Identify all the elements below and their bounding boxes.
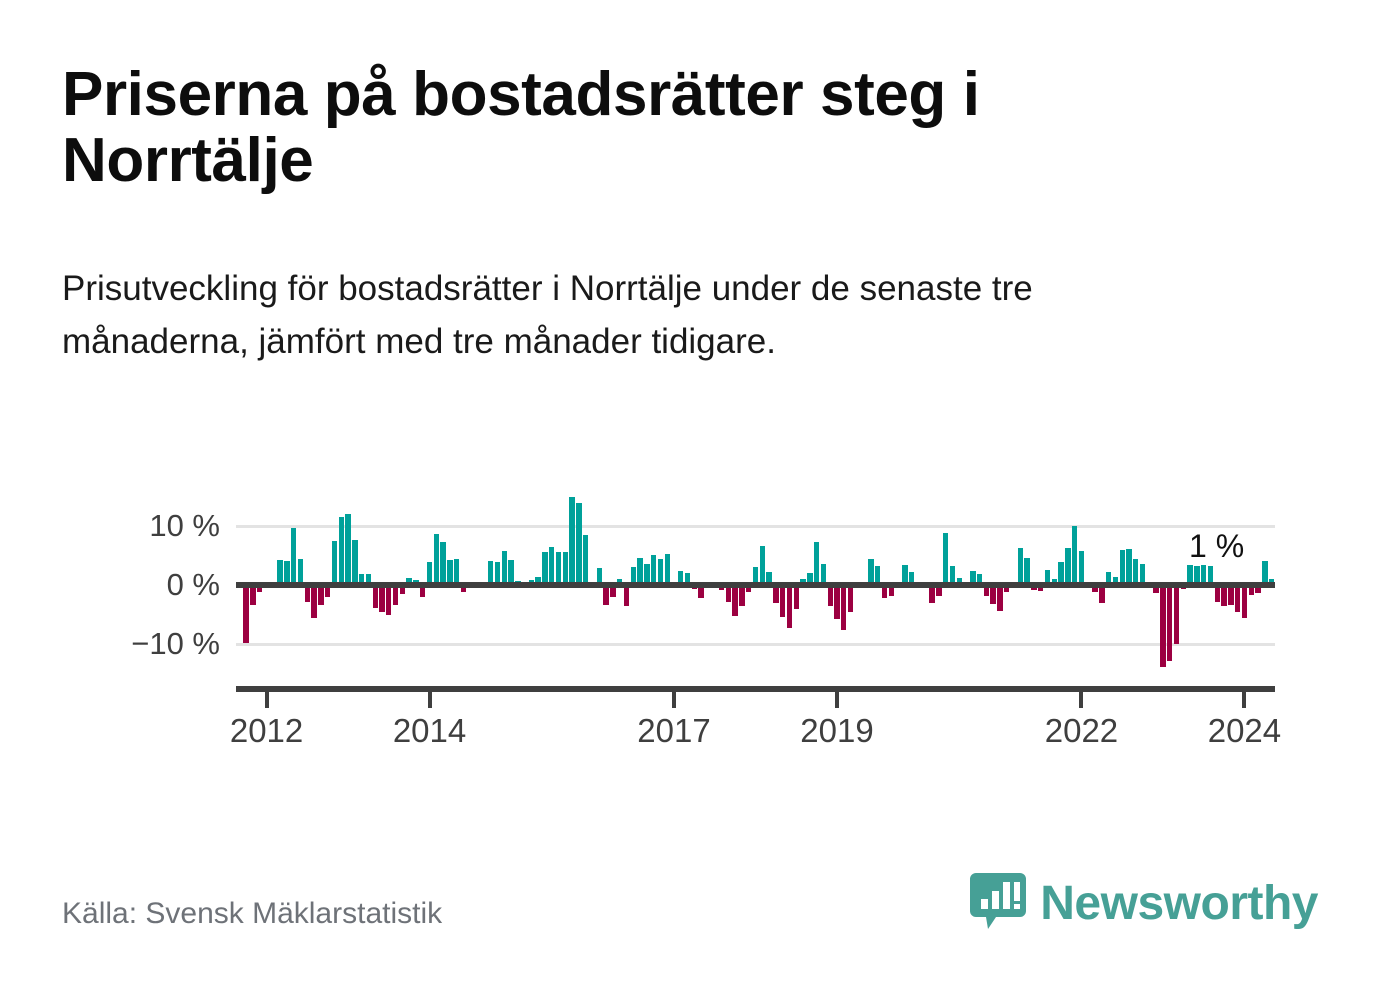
- x-axis-labels: 201220142017201920222024: [236, 712, 1275, 762]
- bar: [569, 497, 574, 585]
- bar-chart-speech-bubble-icon: [970, 873, 1026, 935]
- y-axis-tick-label: 0 %: [167, 567, 220, 603]
- bar: [1160, 585, 1165, 667]
- x-axis-tick: [1242, 692, 1246, 708]
- x-axis-line: [236, 686, 1275, 692]
- bar: [1072, 526, 1077, 585]
- bar: [291, 528, 296, 585]
- bar: [352, 540, 357, 585]
- plot-area: [236, 490, 1275, 680]
- bar: [563, 552, 568, 585]
- bar: [739, 585, 744, 606]
- bar: [1235, 585, 1240, 612]
- zero-baseline: [236, 582, 1275, 588]
- bar: [794, 585, 799, 609]
- page-title: Priserna på bostadsrätter steg i Norrtäl…: [62, 62, 1182, 193]
- bar: [1221, 585, 1226, 606]
- bar: [841, 585, 846, 630]
- logo-wordmark: Newsworthy: [1040, 880, 1318, 928]
- bar: [637, 558, 642, 585]
- bar: [1126, 549, 1131, 585]
- bar: [243, 585, 248, 643]
- x-axis-tick: [428, 692, 432, 708]
- x-axis-tick-label: 2017: [637, 712, 710, 750]
- bar: [1167, 585, 1172, 661]
- infographic-card: Priserna på bostadsrätter steg i Norrtäl…: [0, 0, 1382, 999]
- bar: [332, 541, 337, 585]
- newsworthy-logo: Newsworthy: [970, 873, 1318, 935]
- bar: [814, 542, 819, 585]
- bar: [583, 535, 588, 585]
- bar: [556, 552, 561, 585]
- bar: [1065, 548, 1070, 585]
- y-axis-tick-label: 10 %: [149, 508, 220, 544]
- bar: [386, 585, 391, 615]
- bar: [1024, 558, 1029, 585]
- bar: [943, 533, 948, 585]
- bar: [542, 552, 547, 585]
- bar: [651, 555, 656, 585]
- bar: [576, 503, 581, 585]
- x-axis-tick-label: 2022: [1045, 712, 1118, 750]
- bar: [1120, 550, 1125, 585]
- bar: [318, 585, 323, 605]
- x-axis-tick-label: 2024: [1208, 712, 1281, 750]
- bar: [502, 551, 507, 585]
- bar: [440, 542, 445, 585]
- chart-description: Prisutveckling för bostadsrätter i Norrt…: [62, 262, 1192, 368]
- bar: [549, 547, 554, 585]
- bar-chart: 10 %0 %−10 % 201220142017201920222024 1 …: [0, 470, 1382, 770]
- bar: [624, 585, 629, 606]
- bar: [311, 585, 316, 618]
- bar: [603, 585, 608, 605]
- last-value-annotation: 1 %: [1189, 528, 1244, 565]
- y-axis-tick-label: −10 %: [131, 626, 220, 662]
- bar: [834, 585, 839, 619]
- x-axis-tick-label: 2019: [800, 712, 873, 750]
- bar: [393, 585, 398, 605]
- bar: [373, 585, 378, 608]
- bar: [1228, 585, 1233, 605]
- bar: [787, 585, 792, 628]
- bar: [345, 514, 350, 585]
- bar: [780, 585, 785, 617]
- y-axis-labels: 10 %0 %−10 %: [96, 490, 220, 680]
- bar: [1242, 585, 1247, 618]
- bar: [339, 517, 344, 585]
- bar: [665, 554, 670, 585]
- x-axis-tick-label: 2012: [230, 712, 303, 750]
- bar: [434, 534, 439, 585]
- bar: [760, 546, 765, 585]
- bar: [732, 585, 737, 616]
- bar: [379, 585, 384, 612]
- bar: [828, 585, 833, 606]
- x-axis-tick: [672, 692, 676, 708]
- x-axis-tick: [265, 692, 269, 708]
- source-caption: Källa: Svensk Mäklarstatistik: [62, 897, 442, 931]
- bar: [1079, 551, 1084, 585]
- bar: [848, 585, 853, 612]
- bar: [997, 585, 1002, 611]
- x-axis-tick-label: 2014: [393, 712, 466, 750]
- x-axis-tick: [835, 692, 839, 708]
- bar: [1174, 585, 1179, 644]
- x-axis-tick: [1079, 692, 1083, 708]
- bar: [1018, 548, 1023, 585]
